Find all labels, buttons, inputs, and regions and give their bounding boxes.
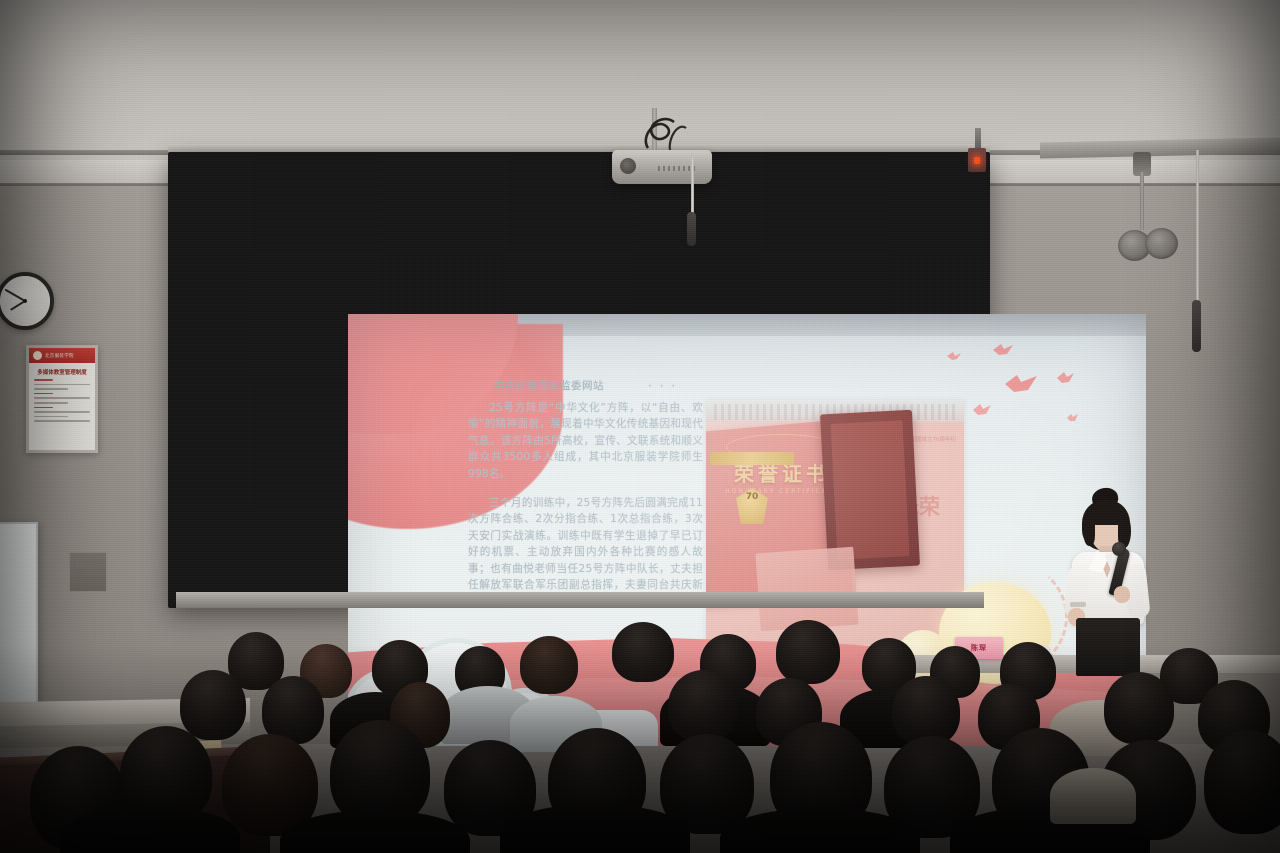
audience-head xyxy=(668,670,738,742)
photo-medal-box xyxy=(820,410,920,571)
slide-source-title: 中央纪委国家监委网站 xyxy=(494,378,604,393)
audience-head xyxy=(520,636,578,694)
poster-header-text: 北京服装学院 xyxy=(45,353,74,359)
audience-shoulders xyxy=(1050,768,1136,824)
audience-head xyxy=(1204,730,1280,834)
projection-screen-frame: 中央纪委国家监委网站 · · · 25号方阵是“中华文化”方阵，以“自由、欢愉”… xyxy=(168,152,990,608)
photo-medal-ribbon xyxy=(710,452,794,465)
hanging-rod-center xyxy=(691,158,694,216)
audience-head xyxy=(776,620,840,684)
dove-icon xyxy=(946,350,962,362)
alarm-mount-stem xyxy=(975,128,981,150)
projector-cables xyxy=(630,112,700,152)
audience-head xyxy=(612,622,674,682)
slide-paragraph-1: 25号方阵是“中华文化”方阵，以“自由、欢愉”的精神面貌，展现着中华文化传统基因… xyxy=(468,400,703,482)
projector-lens-icon xyxy=(620,158,636,174)
dove-icon xyxy=(972,402,992,416)
audience xyxy=(0,600,1280,853)
clock-center-pin xyxy=(23,299,27,303)
hanging-rod-tip-right xyxy=(1192,300,1201,352)
photo-medal-box-interior xyxy=(830,420,909,560)
lecture-hall-scene: 北京服装学院 多媒体教室管理制度 北京服装学院 实验室安全管理规定 xyxy=(0,0,1280,853)
alarm-indicator-led-icon xyxy=(974,157,980,164)
slide-ellipsis: · · · xyxy=(648,379,677,393)
audience-head xyxy=(1104,672,1174,744)
presenter-hair-side-left xyxy=(1083,514,1095,546)
dove-icon xyxy=(1004,372,1038,394)
dove-icon xyxy=(1056,370,1075,384)
poster-header-band: 北京服装学院 xyxy=(29,348,95,363)
audience-shoulders xyxy=(500,804,690,853)
slide-source-header: 中央纪委国家监委网站 · · · xyxy=(468,378,703,393)
audience-head xyxy=(180,670,246,740)
fan-head-right-icon xyxy=(1145,228,1178,259)
dove-icon xyxy=(1066,412,1079,422)
slide-text-column: 中央纪委国家监委网站 · · · 25号方阵是“中华文化”方阵，以“自由、欢愉”… xyxy=(468,378,703,623)
wall-access-panel xyxy=(69,552,107,592)
dove-icon xyxy=(992,342,1014,357)
photo-medal-number: 70 xyxy=(736,492,768,502)
hanging-rod-right xyxy=(1196,150,1199,310)
fan-mount-stem xyxy=(1140,172,1144,230)
hanging-rod-tip-center xyxy=(687,212,696,246)
poster-logo-icon xyxy=(33,351,42,360)
ceiling-fan xyxy=(1118,228,1182,262)
